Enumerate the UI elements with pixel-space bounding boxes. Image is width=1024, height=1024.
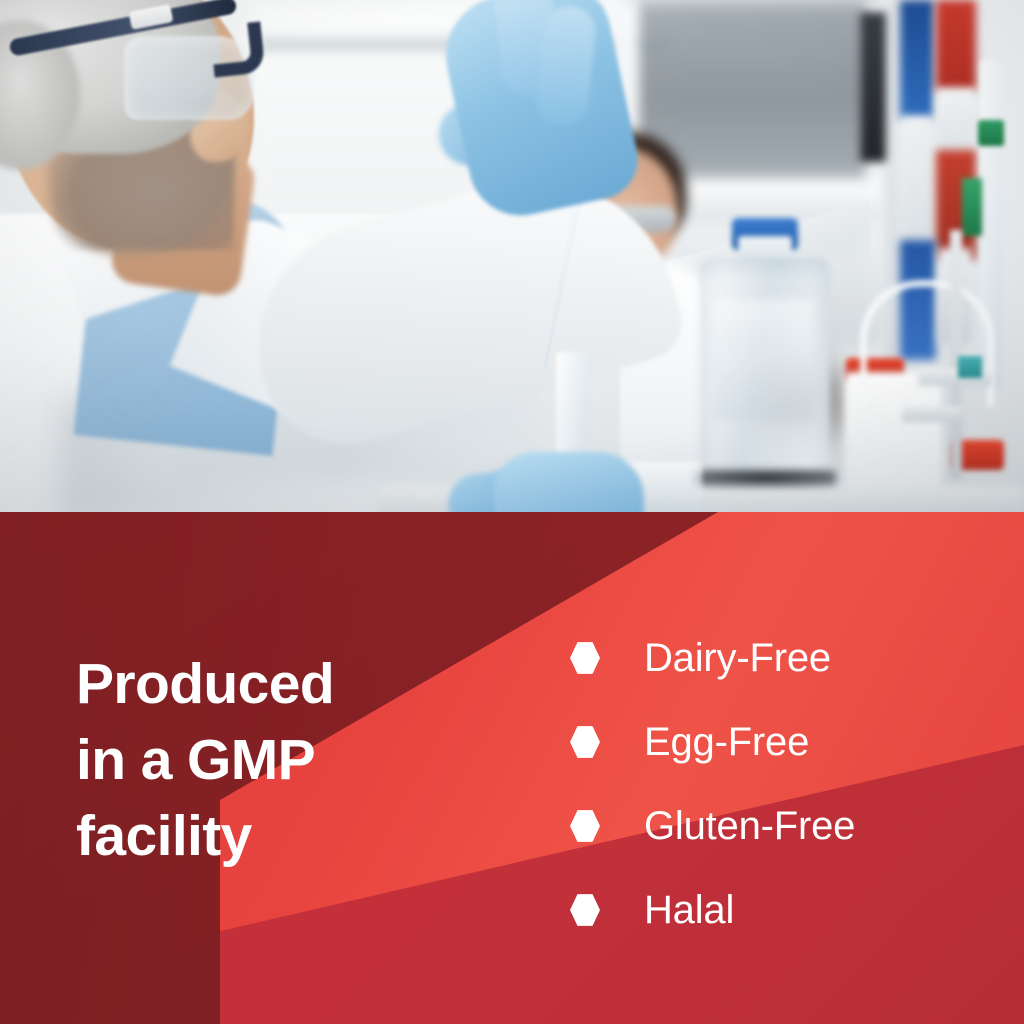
hexagon-bullet-icon xyxy=(570,642,600,675)
lab-photograph xyxy=(0,0,1024,513)
list-item: Dairy-Free xyxy=(570,616,1000,700)
feature-label: Dairy-Free xyxy=(644,636,831,680)
feature-label: Halal xyxy=(644,888,734,932)
list-item: Gluten-Free xyxy=(570,784,1000,868)
photo-vignette xyxy=(0,0,1024,513)
feature-label: Egg-Free xyxy=(644,720,809,764)
headline-line-1: Produced xyxy=(76,646,496,722)
hexagon-bullet-icon xyxy=(570,894,600,927)
red-message-panel: Produced in a GMP facility Dairy-Free Eg… xyxy=(0,512,1024,1024)
headline-line-3: facility xyxy=(76,798,496,874)
list-item: Egg-Free xyxy=(570,700,1000,784)
hexagon-bullet-icon xyxy=(570,726,600,759)
headline-line-2: in a GMP xyxy=(76,722,496,798)
page-title: Produced in a GMP facility xyxy=(76,646,496,874)
hexagon-bullet-icon xyxy=(570,810,600,843)
promo-graphic: Produced in a GMP facility Dairy-Free Eg… xyxy=(0,0,1024,1024)
list-item: Halal xyxy=(570,868,1000,952)
feature-label: Gluten-Free xyxy=(644,804,855,848)
feature-list: Dairy-Free Egg-Free Gluten-Free Halal xyxy=(570,616,1000,952)
